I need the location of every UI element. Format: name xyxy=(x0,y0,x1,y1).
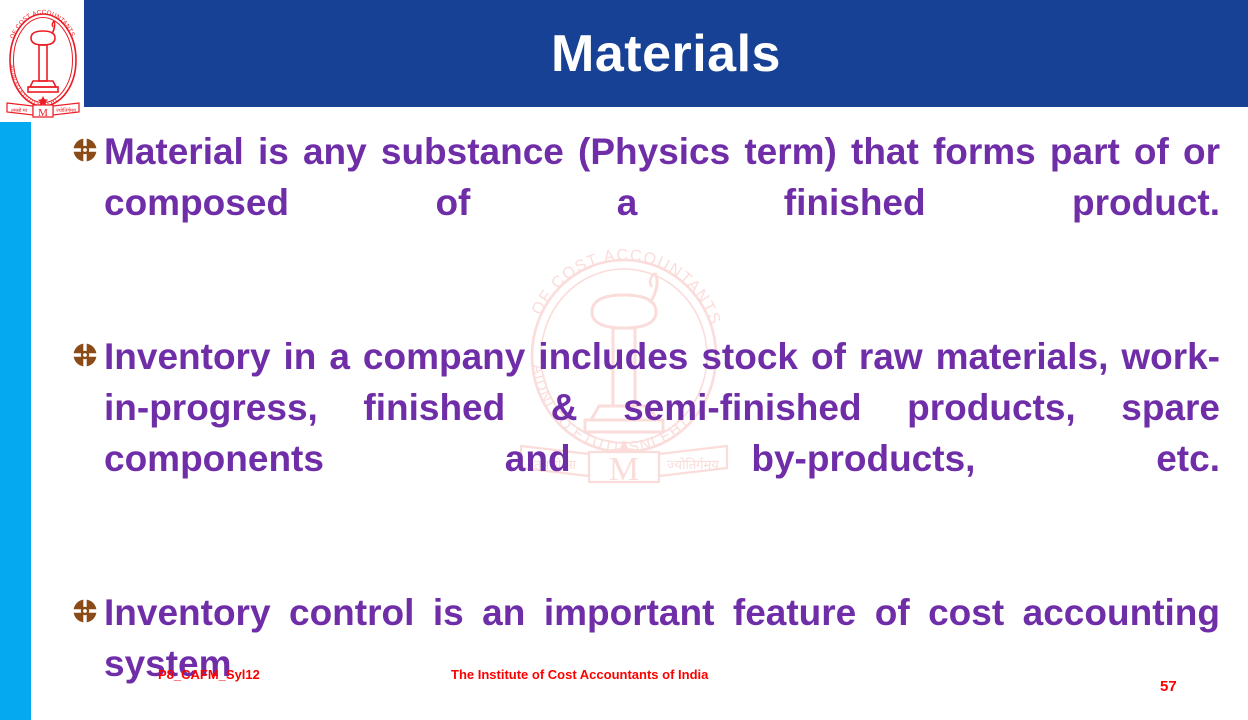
presentation-slide: Materials OF COST ACCOUNTANTS AIDNI FO E… xyxy=(0,0,1248,720)
list-item: Inventory control is an important featur… xyxy=(72,587,1220,720)
bullet-text: Inventory control is an important featur… xyxy=(104,587,1220,720)
slide-body: Material is any substance (Physics term)… xyxy=(72,126,1220,720)
svg-text:ज्योतिर्गमय: ज्योतिर्गमय xyxy=(56,107,76,114)
bullet-text: Inventory in a company includes stock of… xyxy=(104,331,1220,535)
page-number: 57 xyxy=(1160,678,1177,695)
page-title: Materials xyxy=(84,0,1248,107)
institute-logo: OF COST ACCOUNTANTS AIDNI FO ETUTITSNI E… xyxy=(4,2,82,120)
bullet-text: Material is any substance (Physics term)… xyxy=(104,126,1220,279)
list-item: Inventory in a company includes stock of… xyxy=(72,331,1220,535)
footer-subject-code: P8_CAFM_Syl12 xyxy=(158,667,260,682)
flower-bullet-icon xyxy=(72,598,98,624)
left-accent-strip xyxy=(0,122,31,720)
footer-organisation: The Institute of Cost Accountants of Ind… xyxy=(451,667,708,682)
svg-text:M: M xyxy=(38,107,48,119)
flower-bullet-icon xyxy=(72,137,98,163)
svg-text:तमसो मा: तमसो मा xyxy=(11,107,28,114)
flower-bullet-icon xyxy=(72,342,98,368)
list-item: Material is any substance (Physics term)… xyxy=(72,126,1220,279)
title-banner: Materials xyxy=(84,0,1248,107)
